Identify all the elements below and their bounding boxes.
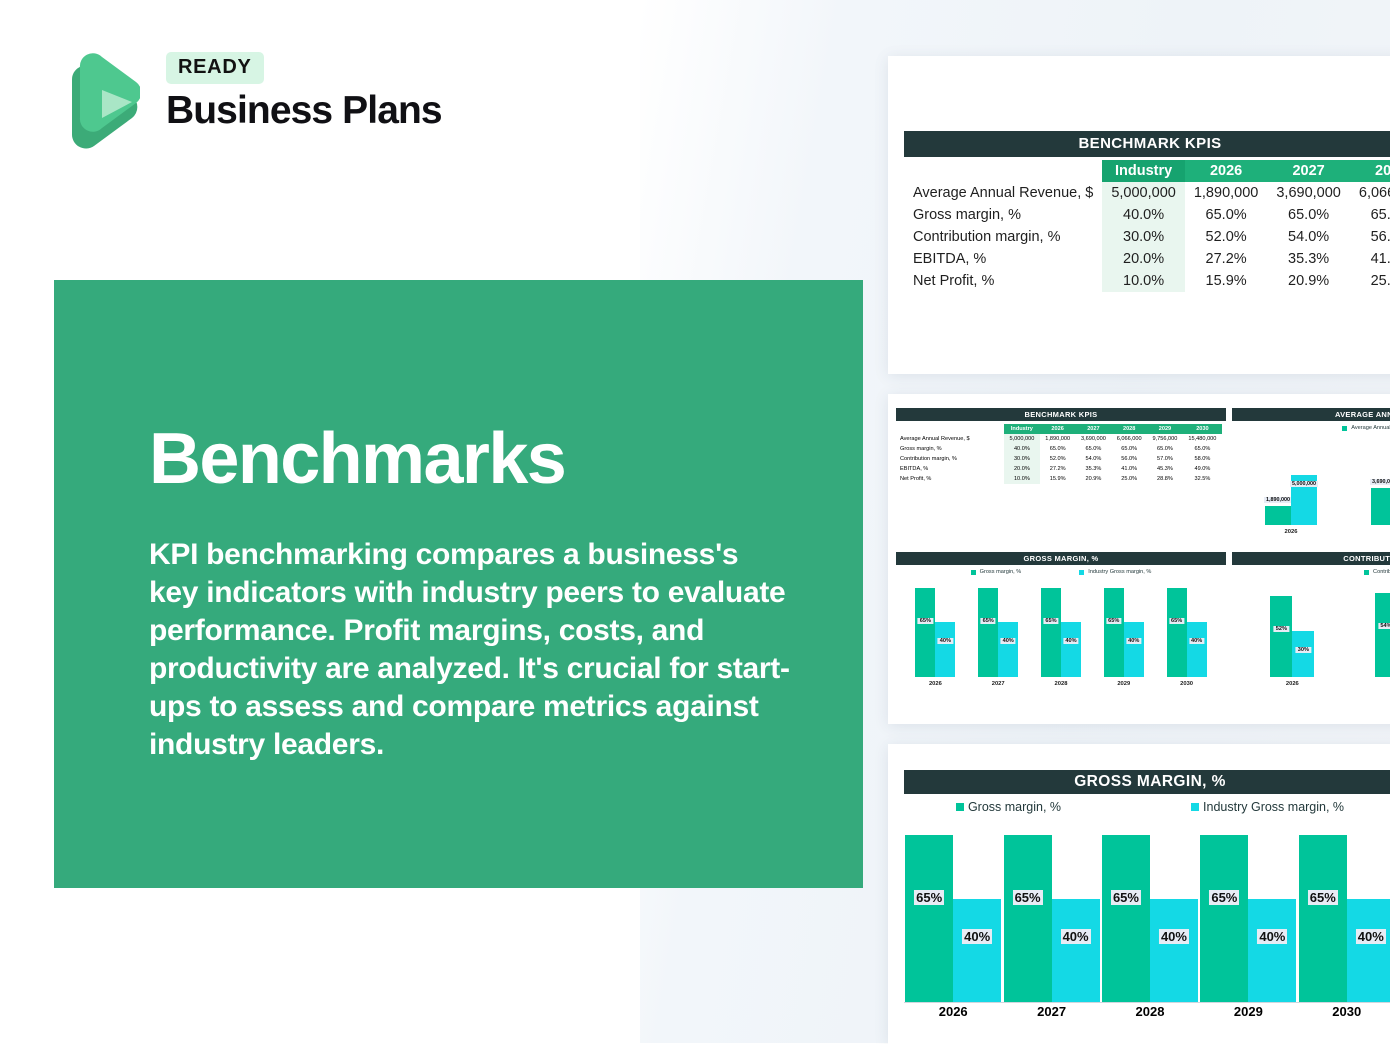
bar-group: 65%40% (1200, 822, 1296, 1002)
x-axis-label: 2029 (1234, 1004, 1263, 1019)
hero-description: KPI benchmarking compares a business's k… (149, 536, 793, 765)
industry-value: 20.0% (1004, 464, 1040, 474)
bar-gross-margin-: 65% (1167, 588, 1187, 677)
bar-value-label: 3,690,000 (1370, 479, 1390, 485)
gross-margin-chart-card: GROSS MARGIN, % Gross margin, % Industry… (888, 744, 1390, 1044)
bar-value-label: 65% (1043, 618, 1058, 624)
bar-group: 65%40% (1004, 822, 1100, 1002)
bar-gross-margin-: 65% (1102, 835, 1150, 1002)
x-axis-label: 2026 (929, 681, 942, 687)
row-label: Gross margin, % (904, 204, 1102, 226)
legend-label-revenue: Average Annual Revenue, $ (1351, 425, 1390, 431)
bar-group: 65%40%2029 (1104, 581, 1144, 687)
year-value: 65.0% (1040, 444, 1076, 454)
bar-average-annual-revenue-: 3,690,000 (1371, 488, 1390, 525)
bar-group: 54%30%2027 (1375, 581, 1390, 687)
bar-group: 65%40% (905, 822, 1001, 1002)
bar-industry-gross-margin-: 40% (1052, 899, 1100, 1002)
bar-value-label: 40% (1257, 929, 1287, 944)
year-value: 65.0% (1076, 444, 1112, 454)
table-row: Net Profit, %10.0%15.9%20.9%25.0%28.8%32… (896, 474, 1222, 484)
year-value: 3,690,000 (1076, 434, 1112, 444)
bar-group: 65%40% (1102, 822, 1198, 1002)
year-value: 9,756,000 (1147, 434, 1183, 444)
table-row: Gross margin, %40.0%65.0%65.0%65.0% (904, 204, 1390, 226)
kpi-table-title: BENCHMARK KPIS (904, 131, 1390, 157)
mini-revenue-chart-title: AVERAGE ANNUAL REVENUE, $ (1232, 408, 1390, 421)
legend-swatch-industry-gross-margin (1191, 803, 1199, 811)
bar-value-label: 65% (1013, 890, 1043, 905)
industry-value: 40.0% (1102, 204, 1185, 226)
year-value: 32.5% (1183, 474, 1222, 484)
table-header-row: Industry202620272028 (904, 160, 1390, 182)
bar-value-label: 40% (1126, 638, 1141, 644)
row-label: Average Annual Revenue, $ (896, 434, 1004, 444)
year-value: 1,890,000 (1040, 434, 1076, 444)
year-value: 41.0% (1350, 248, 1390, 270)
bar-gross-margin-: 65% (1299, 835, 1347, 1002)
bar-group: 65%40%2027 (978, 581, 1018, 687)
table-row: Net Profit, %10.0%15.9%20.9%25.0% (904, 270, 1390, 292)
bar-industry-gross-margin-: 40% (1347, 899, 1390, 1002)
row-label: Contribution margin, % (904, 226, 1102, 248)
column-header-industry: Industry (1004, 424, 1040, 434)
year-value: 54.0% (1267, 226, 1350, 248)
table-row: EBITDA, %20.0%27.2%35.3%41.0% (904, 248, 1390, 270)
column-header-2027: 2027 (1267, 160, 1350, 182)
column-header-industry: Industry (1102, 160, 1185, 182)
legend-label-industry-gross-margin: Industry Gross margin, % (1203, 800, 1344, 814)
mini-contribution-margin-title: CONTRIBUTION MARGIN, % (1232, 552, 1390, 565)
bar-value-label: 30% (1296, 647, 1311, 653)
year-value: 45.3% (1147, 464, 1183, 474)
kpi-table-card: BENCHMARK KPIS Industry202620272028Avera… (888, 56, 1390, 374)
mini-contribution-bars: 52%30%202654%30%202756%30%2028 (1232, 575, 1390, 687)
column-header-2026: 2026 (1040, 424, 1076, 434)
mini-kpi-table-title: BENCHMARK KPIS (896, 408, 1226, 421)
year-value: 15.9% (1040, 474, 1076, 484)
bar-group: 3,690,0005,000,0002027 (1371, 445, 1390, 535)
legend-label-gross-margin: Gross margin, % (968, 800, 1061, 814)
bar-value-label: 40% (1063, 638, 1078, 644)
brand-name: Business Plans (166, 91, 496, 130)
year-value: 65.0% (1185, 204, 1268, 226)
bar-value-label: 40% (1356, 929, 1386, 944)
row-label: EBITDA, % (896, 464, 1004, 474)
bar-value-label: 40% (1001, 638, 1016, 644)
bar-industry-gross-margin-: 40% (953, 899, 1001, 1002)
bar-average-annual-revenue-: 1,890,000 (1265, 506, 1291, 525)
bar-industry: 5,000,000 (1291, 475, 1317, 525)
bar-contribution-margin-: 54% (1375, 593, 1390, 677)
industry-value: 10.0% (1102, 270, 1185, 292)
bar-value-label: 40% (938, 638, 953, 644)
year-value: 20.9% (1267, 270, 1350, 292)
mini-benchmark-kpi-table: Industry20262027202820292030Average Annu… (896, 424, 1222, 484)
year-value: 49.0% (1183, 464, 1222, 474)
year-value: 56.0% (1111, 454, 1147, 464)
x-axis-label: 2026 (939, 1004, 968, 1019)
legend-swatch-gross-margin (956, 803, 964, 811)
column-header-2030: 2030 (1183, 424, 1222, 434)
table-corner-cell (896, 424, 1004, 434)
row-label: Average Annual Revenue, $ (904, 182, 1102, 204)
legend-swatch-contribution (1364, 570, 1369, 575)
bar-gross-margin-: 65% (1041, 588, 1061, 677)
table-row: Average Annual Revenue, $5,000,0001,890,… (896, 434, 1222, 444)
bar-industry-gross-margin-: 40% (1061, 622, 1081, 677)
bar-industry-gross-margin-: 40% (1150, 899, 1198, 1002)
ready-badge: READY (166, 52, 264, 84)
year-value: 3,690,000 (1267, 182, 1350, 204)
year-value: 1,890,000 (1185, 182, 1268, 204)
bar-contribution-margin-: 52% (1270, 596, 1292, 677)
table-corner-cell (904, 160, 1102, 182)
gross-margin-bars: 65%40%65%40%65%40%65%40%65%40% (904, 822, 1390, 1002)
mini-kpi-table-panel: BENCHMARK KPIS Industry20262027202820292… (896, 408, 1226, 556)
x-axis-label: 2027 (992, 681, 1005, 687)
year-value: 25.0% (1111, 474, 1147, 484)
bar-value-label: 40% (1159, 929, 1189, 944)
bar-industry-gross-margin-: 40% (1124, 622, 1144, 677)
bar-value-label: 54% (1378, 623, 1390, 629)
x-axis-label: 2028 (1136, 1004, 1165, 1019)
brand-wordmark: READY Business Plans (166, 52, 496, 130)
bar-value-label: 65% (1111, 890, 1141, 905)
year-value: 6,066,000 (1111, 434, 1147, 444)
year-value: 57.0% (1147, 454, 1183, 464)
bar-value-label: 65% (981, 618, 996, 624)
table-row: Average Annual Revenue, $5,000,0001,890,… (904, 182, 1390, 204)
bar-value-label: 65% (1209, 890, 1239, 905)
legend-swatch-industry-gross-margin (1079, 570, 1084, 575)
benchmark-kpi-table: Industry202620272028Average Annual Reven… (904, 160, 1390, 292)
bar-value-label: 1,890,000 (1264, 497, 1292, 503)
legend-swatch-revenue (1342, 426, 1347, 431)
mini-gross-margin-title: GROSS MARGIN, % (896, 552, 1226, 565)
row-label: Net Profit, % (896, 474, 1004, 484)
year-value: 20.9% (1076, 474, 1112, 484)
year-value: 41.0% (1111, 464, 1147, 474)
year-value: 27.2% (1185, 248, 1268, 270)
year-value: 58.0% (1183, 454, 1222, 464)
dashboard-overview-card: BENCHMARK KPIS Industry20262027202820292… (888, 394, 1390, 724)
industry-value: 40.0% (1004, 444, 1040, 454)
year-value: 52.0% (1185, 226, 1268, 248)
legend-label-industry-gross-margin: Industry Gross margin, % (1088, 569, 1151, 575)
x-axis-label: 2026 (1286, 681, 1299, 687)
year-value: 35.3% (1076, 464, 1112, 474)
industry-value: 5,000,000 (1004, 434, 1040, 444)
column-header-2028: 2028 (1111, 424, 1147, 434)
bar-industry-contribution-margin-: 30% (1292, 631, 1314, 677)
x-axis-label: 2029 (1117, 681, 1130, 687)
bar-value-label: 65% (1106, 618, 1121, 624)
industry-value: 20.0% (1102, 248, 1185, 270)
bar-value-label: 65% (1169, 618, 1184, 624)
legend-label-contribution: Contribution margin, % (1373, 569, 1390, 575)
brand-logo: READY Business Plans (58, 52, 438, 162)
bar-gross-margin-: 65% (1104, 588, 1124, 677)
mini-revenue-bars: 1,890,0005,000,00020263,690,0005,000,000… (1232, 431, 1390, 535)
bar-industry-gross-margin-: 40% (1187, 622, 1207, 677)
year-value: 65.0% (1147, 444, 1183, 454)
chart-axis-line (904, 1002, 1390, 1003)
bar-group: 65%40% (1299, 822, 1390, 1002)
legend-label-gross-margin: Gross margin, % (980, 569, 1022, 575)
bar-group: 1,890,0005,000,0002026 (1265, 445, 1317, 535)
column-header-2027: 2027 (1076, 424, 1112, 434)
legend-swatch-gross-margin (971, 570, 976, 575)
year-value: 25.0% (1350, 270, 1390, 292)
x-axis-label: 2030 (1180, 681, 1193, 687)
bar-value-label: 65% (914, 890, 944, 905)
year-value: 52.0% (1040, 454, 1076, 464)
industry-value: 5,000,000 (1102, 182, 1185, 204)
year-value: 15,480,000 (1183, 434, 1222, 444)
bar-group: 65%40%2030 (1167, 581, 1207, 687)
row-label: EBITDA, % (904, 248, 1102, 270)
row-label: Net Profit, % (904, 270, 1102, 292)
year-value: 56.0% (1350, 226, 1390, 248)
bar-industry-gross-margin-: 40% (935, 622, 955, 677)
table-row: EBITDA, %20.0%27.2%35.3%41.0%45.3%49.0% (896, 464, 1222, 474)
year-value: 65.0% (1267, 204, 1350, 226)
bar-industry-gross-margin-: 40% (1248, 899, 1296, 1002)
bar-value-label: 65% (1308, 890, 1338, 905)
play-triangle-logo-icon (58, 52, 140, 150)
bar-gross-margin-: 65% (1004, 835, 1052, 1002)
bar-group: 65%40%2028 (1041, 581, 1081, 687)
gross-margin-chart-title: GROSS MARGIN, % (904, 770, 1390, 794)
bar-gross-margin-: 65% (915, 588, 935, 677)
x-axis-label: 2028 (1055, 681, 1068, 687)
bar-gross-margin-: 65% (978, 588, 998, 677)
year-value: 54.0% (1076, 454, 1112, 464)
bar-industry-gross-margin-: 40% (998, 622, 1018, 677)
industry-value: 30.0% (1102, 226, 1185, 248)
x-axis-label: 2026 (1285, 529, 1298, 535)
table-row: Contribution margin, %30.0%52.0%54.0%56.… (904, 226, 1390, 248)
year-value: 65.0% (1183, 444, 1222, 454)
year-value: 15.9% (1185, 270, 1268, 292)
year-value: 35.3% (1267, 248, 1350, 270)
bar-value-label: 5,000,000 (1290, 481, 1318, 487)
bar-group: 52%30%2026 (1270, 581, 1314, 687)
industry-value: 10.0% (1004, 474, 1040, 484)
page-title: Benchmarks (149, 422, 793, 498)
mini-gross-margin-bars: 65%40%202665%40%202765%40%202865%40%2029… (896, 575, 1226, 687)
bar-group: 65%40%2026 (915, 581, 955, 687)
bar-value-label: 40% (1061, 929, 1091, 944)
year-value: 65.0% (1350, 204, 1390, 226)
bar-gross-margin-: 65% (905, 835, 953, 1002)
bar-value-label: 65% (918, 618, 933, 624)
bar-value-label: 40% (962, 929, 992, 944)
gross-margin-x-labels: 20262027202820292030 (904, 1004, 1390, 1019)
industry-value: 30.0% (1004, 454, 1040, 464)
x-axis-label: 2027 (1037, 1004, 1066, 1019)
column-header-2029: 2029 (1147, 424, 1183, 434)
mini-revenue-chart-panel: AVERAGE ANNUAL REVENUE, $ Average Annual… (1232, 408, 1390, 556)
row-label: Contribution margin, % (896, 454, 1004, 464)
year-value: 6,066,000 (1350, 182, 1390, 204)
year-value: 65.0% (1111, 444, 1147, 454)
column-header-2028: 2028 (1350, 160, 1390, 182)
x-axis-label: 2030 (1332, 1004, 1361, 1019)
year-value: 28.8% (1147, 474, 1183, 484)
bar-value-label: 52% (1274, 626, 1289, 632)
bar-gross-margin-: 65% (1200, 835, 1248, 1002)
table-row: Contribution margin, %30.0%52.0%54.0%56.… (896, 454, 1222, 464)
year-value: 27.2% (1040, 464, 1076, 474)
gross-margin-legend: Gross margin, % Industry Gross margin, % (904, 800, 1390, 814)
table-row: Gross margin, %40.0%65.0%65.0%65.0%65.0%… (896, 444, 1222, 454)
mini-gross-margin-panel: GROSS MARGIN, % Gross margin, % Industry… (896, 552, 1226, 714)
table-header-row: Industry20262027202820292030 (896, 424, 1222, 434)
bar-value-label: 40% (1189, 638, 1204, 644)
hero-panel: Benchmarks KPI benchmarking compares a b… (54, 280, 863, 888)
row-label: Gross margin, % (896, 444, 1004, 454)
mini-contribution-margin-panel: CONTRIBUTION MARGIN, % Contribution marg… (1232, 552, 1390, 714)
column-header-2026: 2026 (1185, 160, 1268, 182)
